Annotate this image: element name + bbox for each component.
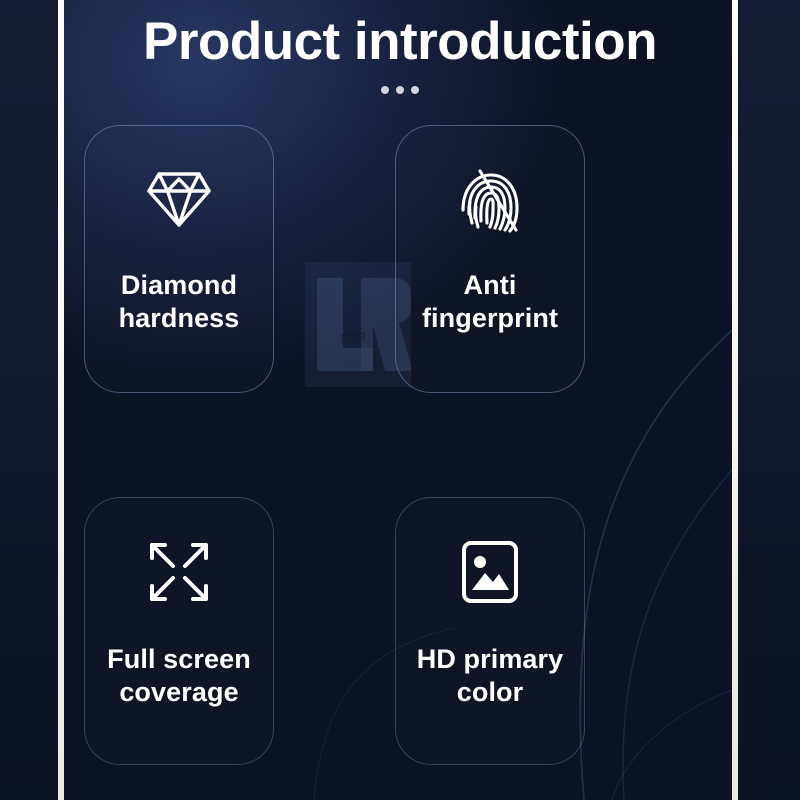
feature-card-hd-primary-color[interactable]: HD primary color [395, 497, 585, 765]
label-line-2: coverage [71, 676, 287, 709]
title-dots [0, 86, 800, 94]
feature-card-label: Anti fingerprint [382, 269, 598, 335]
right-edge-stripe [732, 0, 738, 800]
feature-card-diamond-hardness[interactable]: Diamond hardness [84, 125, 274, 393]
label-line-2: color [382, 676, 598, 709]
label-line-1: Diamond [71, 269, 287, 302]
feature-card-label: Diamond hardness [71, 269, 287, 335]
title-dot [396, 86, 404, 94]
feature-card-anti-fingerprint[interactable]: Anti fingerprint [395, 125, 585, 393]
feature-card-full-screen-coverage[interactable]: Full screen coverage [84, 497, 274, 765]
feature-card-label: Full screen coverage [71, 643, 287, 709]
title-dot [411, 86, 419, 94]
fingerprint-icon [396, 168, 584, 236]
product-introduction-banner: DJR Product introduction [0, 0, 800, 800]
right-edge-band [738, 0, 800, 800]
diamond-icon [85, 168, 273, 230]
feature-card-grid: Diamond hardness [84, 125, 620, 790]
label-line-1: Full screen [71, 643, 287, 676]
left-edge-band [0, 0, 58, 800]
label-line-2: fingerprint [382, 302, 598, 335]
expand-arrows-icon [85, 540, 273, 604]
label-line-2: hardness [71, 302, 287, 335]
page-title: Product introduction [0, 11, 800, 73]
label-line-1: Anti [382, 269, 598, 302]
label-line-1: HD primary [382, 643, 598, 676]
title-dot [381, 86, 389, 94]
feature-card-label: HD primary color [382, 643, 598, 709]
image-icon [396, 540, 584, 604]
